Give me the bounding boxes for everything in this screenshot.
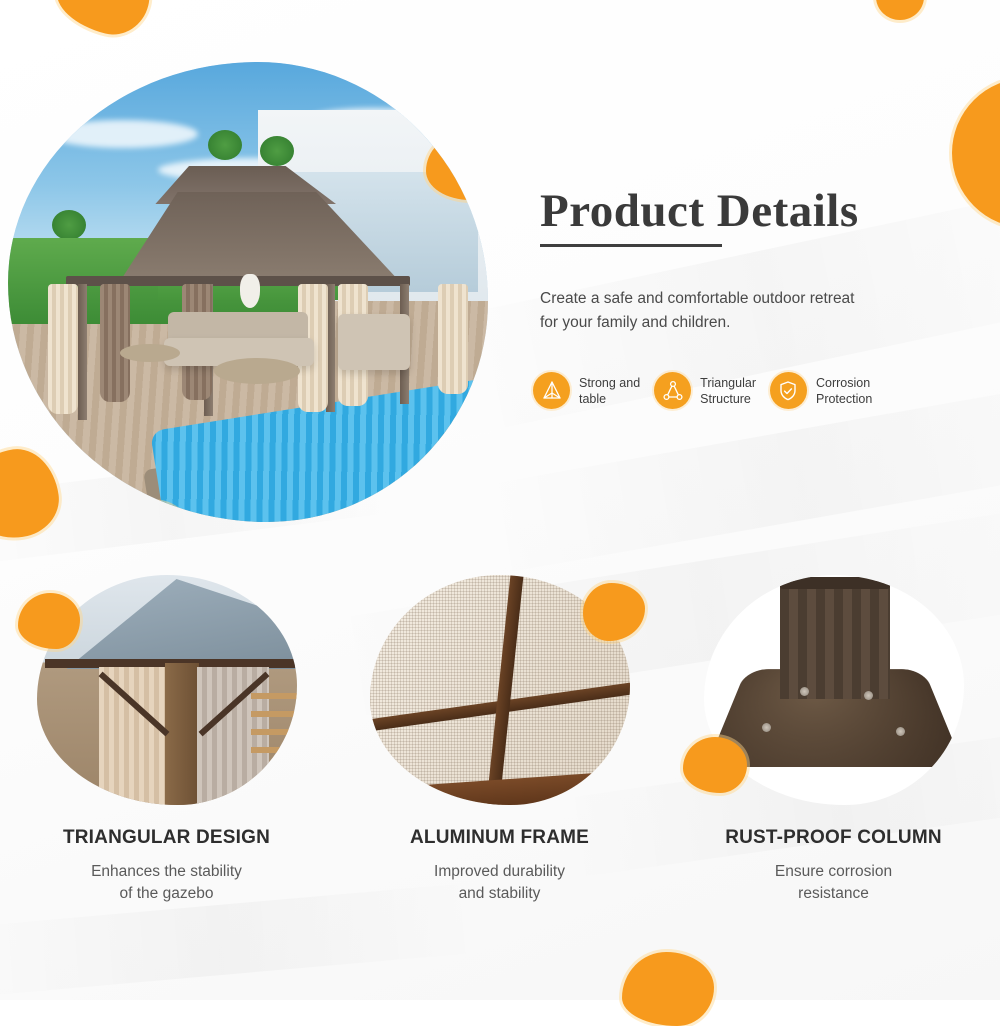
card-description-line2: and stability <box>333 883 666 905</box>
palm-tree <box>208 130 242 160</box>
vase <box>240 274 260 308</box>
feature-label: Corrosion Protection <box>816 375 872 407</box>
detail-card-rust-proof-column: RUST-PROOF COLUMN Ensure corrosion resis… <box>667 575 1000 906</box>
bolt-icon <box>896 727 905 736</box>
card-title: ALUMINUM FRAME <box>333 827 666 849</box>
title-underline <box>540 244 722 247</box>
coffee-table <box>214 358 300 384</box>
cloud <box>48 120 198 148</box>
feature-label-line2: Structure <box>700 391 756 407</box>
bolt-icon <box>762 723 771 732</box>
card-description-line1: Ensure corrosion <box>667 861 1000 883</box>
deck-railing <box>251 683 297 753</box>
feature-label: Strong and table <box>579 375 640 407</box>
gazebo-curtain <box>100 284 130 402</box>
triangle-nodes-icon <box>654 372 691 409</box>
card-description-line1: Improved durability <box>333 861 666 883</box>
detail-card-list: TRIANGULAR DESIGN Enhances the stability… <box>0 575 1000 975</box>
card-description-line1: Enhances the stability <box>0 861 333 883</box>
curtain-panel <box>99 667 165 805</box>
feature-label-line1: Corrosion <box>816 375 872 391</box>
detail-card-aluminum-frame: ALUMINUM FRAME Improved durability and s… <box>333 575 666 906</box>
decorative-blob-card <box>18 593 80 649</box>
page-subtitle: Create a safe and comfortable outdoor re… <box>540 287 860 335</box>
pyramid-icon <box>533 372 570 409</box>
decorative-blob-card <box>683 737 747 793</box>
hero-gazebo-image <box>8 62 488 522</box>
feature-item-corrosion-protection: Corrosion Protection <box>770 372 872 409</box>
decorative-blob-card <box>583 583 645 641</box>
feature-label: Triangular Structure <box>700 375 756 407</box>
card-description-line2: resistance <box>667 883 1000 905</box>
side-table <box>120 344 180 362</box>
column-body <box>780 581 890 699</box>
gazebo-curtain <box>48 284 78 414</box>
gazebo-roof-detail <box>47 579 297 669</box>
feature-list: Strong and table Triangular Structure <box>533 372 983 409</box>
feature-item-strong-stable: Strong and table <box>533 372 640 409</box>
feature-label-line1: Triangular <box>700 375 756 391</box>
shield-check-icon <box>770 372 807 409</box>
page-title: Product Details <box>540 188 960 235</box>
feature-label-line2: table <box>579 391 640 407</box>
card-title: RUST-PROOF COLUMN <box>667 827 1000 849</box>
card-description: Enhances the stability of the gazebo <box>0 861 333 906</box>
card-title: TRIANGULAR DESIGN <box>0 827 333 849</box>
column-top-edge <box>780 577 890 589</box>
header-block: Product Details Create a safe and comfor… <box>540 188 960 335</box>
palm-tree <box>260 136 294 166</box>
gazebo-curtain <box>438 284 468 394</box>
corner-column <box>165 663 199 805</box>
feature-item-triangular-structure: Triangular Structure <box>654 372 756 409</box>
feature-label-line1: Strong and <box>579 375 640 391</box>
palm-tree <box>52 210 86 240</box>
card-description-line2: of the gazebo <box>0 883 333 905</box>
card-description: Improved durability and stability <box>333 861 666 906</box>
detail-card-triangular-design: TRIANGULAR DESIGN Enhances the stability… <box>0 575 333 906</box>
bolt-icon <box>800 687 809 696</box>
bolt-icon <box>864 691 873 700</box>
card-description: Ensure corrosion resistance <box>667 861 1000 906</box>
feature-label-line2: Protection <box>816 391 872 407</box>
armchair <box>338 314 410 370</box>
gazebo-post <box>78 284 87 420</box>
